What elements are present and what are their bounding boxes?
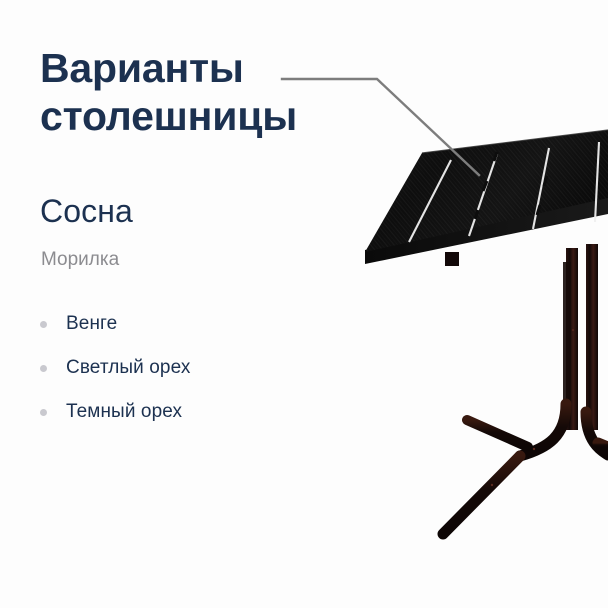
bullet-icon xyxy=(40,409,47,416)
tabletop-group xyxy=(365,130,608,264)
option-label: Темный орех xyxy=(66,400,182,424)
headline-block: Варианты столешницы xyxy=(40,44,340,140)
list-item: Темный орех xyxy=(40,390,190,434)
page-title: Варианты столешницы xyxy=(40,44,340,140)
material-name: Сосна xyxy=(40,192,133,230)
bullet-icon xyxy=(40,365,47,372)
option-label: Светлый орех xyxy=(66,356,190,380)
option-label: Венге xyxy=(66,312,117,336)
list-item: Венге xyxy=(40,302,190,346)
mount-tab xyxy=(445,252,459,266)
list-item: Светлый орех xyxy=(40,346,190,390)
finish-type: Морилка xyxy=(41,248,119,272)
poster-canvas: Варианты столешницы Сосна Морилка Венге … xyxy=(0,0,608,608)
finish-options-list: Венге Светлый орех Темный орех xyxy=(40,302,190,434)
bullet-icon xyxy=(40,321,47,328)
table-base-group xyxy=(443,244,608,534)
